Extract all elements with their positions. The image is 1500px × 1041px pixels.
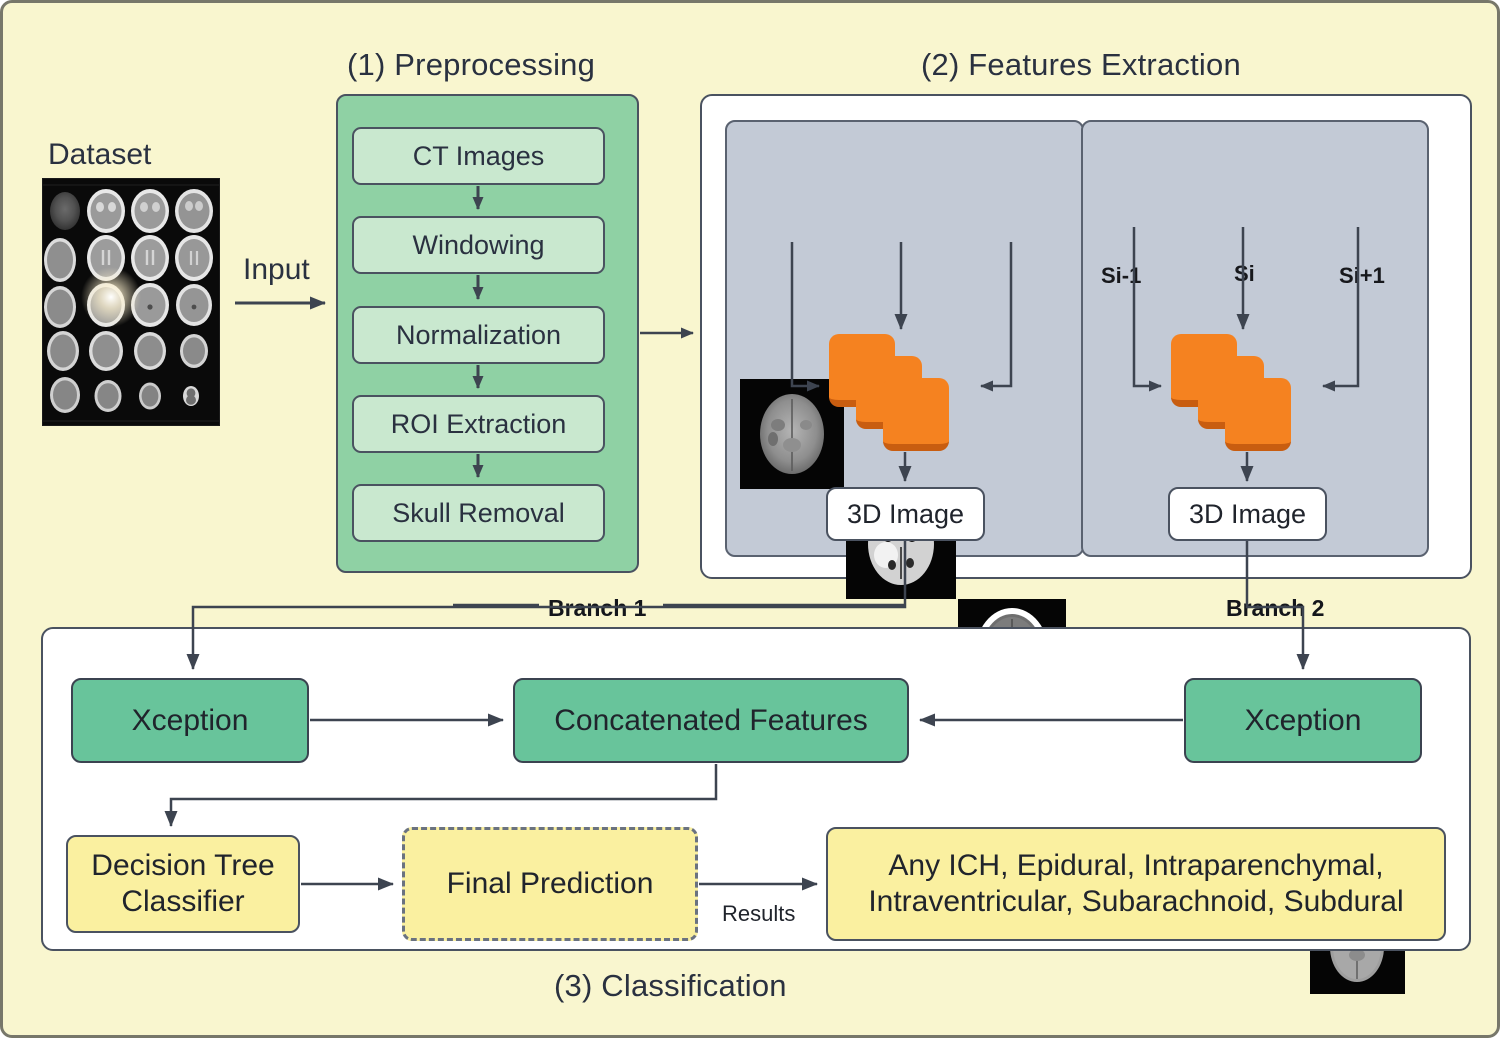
step-windowing[interactable]: Windowing xyxy=(352,216,605,274)
branch2-3d-image-box[interactable]: 3D Image xyxy=(1168,487,1327,541)
step-roi-extraction[interactable]: ROI Extraction xyxy=(352,395,605,453)
step-normalization[interactable]: Normalization xyxy=(352,306,605,364)
results-box[interactable]: Any ICH, Epidural, Intraparenchymal, Int… xyxy=(826,827,1446,941)
dataset-image xyxy=(42,178,220,426)
classification-title: (3) Classification xyxy=(554,968,787,1004)
results-line-2: Intraventricular, Subarachnoid, Subdural xyxy=(868,884,1403,920)
xception-right-box[interactable]: Xception xyxy=(1184,678,1422,763)
concatenated-features-box[interactable]: Concatenated Features xyxy=(513,678,909,763)
final-prediction-box[interactable]: Final Prediction xyxy=(402,827,698,941)
results-edge-label: Results xyxy=(722,901,795,927)
branch2-label-si-plus-1: Si+1 xyxy=(1339,263,1385,289)
results-line-1: Any ICH, Epidural, Intraparenchymal, xyxy=(888,848,1383,884)
figure-root: (1) Preprocessing (2) Features Extractio… xyxy=(0,0,1500,1038)
dataset-label: Dataset xyxy=(48,138,151,172)
step-ct-images[interactable]: CT Images xyxy=(352,127,605,185)
branch1-orange-stack xyxy=(829,334,969,449)
decision-tree-line-2: Classifier xyxy=(121,884,244,920)
input-edge-label: Input xyxy=(243,253,310,287)
branch-2-label: Branch 2 xyxy=(1221,595,1329,622)
branch-1-label: Branch 1 xyxy=(543,595,651,622)
branch2-label-si: Si xyxy=(1234,261,1255,287)
xception-left-box[interactable]: Xception xyxy=(71,678,309,763)
orange-card-3 xyxy=(883,378,949,451)
branch2-label-si-minus-1: Si-1 xyxy=(1101,263,1141,289)
features-extraction-title: (2) Features Extraction xyxy=(921,47,1241,83)
branch1-3d-image-box[interactable]: 3D Image xyxy=(826,487,985,541)
decision-tree-line-1: Decision Tree xyxy=(91,848,274,884)
preprocessing-title: (1) Preprocessing xyxy=(347,47,595,83)
decision-tree-classifier-box[interactable]: Decision Tree Classifier xyxy=(66,835,300,933)
orange-card-3 xyxy=(1225,378,1291,451)
branch2-orange-stack xyxy=(1171,334,1311,449)
step-skull-removal[interactable]: Skull Removal xyxy=(352,484,605,542)
